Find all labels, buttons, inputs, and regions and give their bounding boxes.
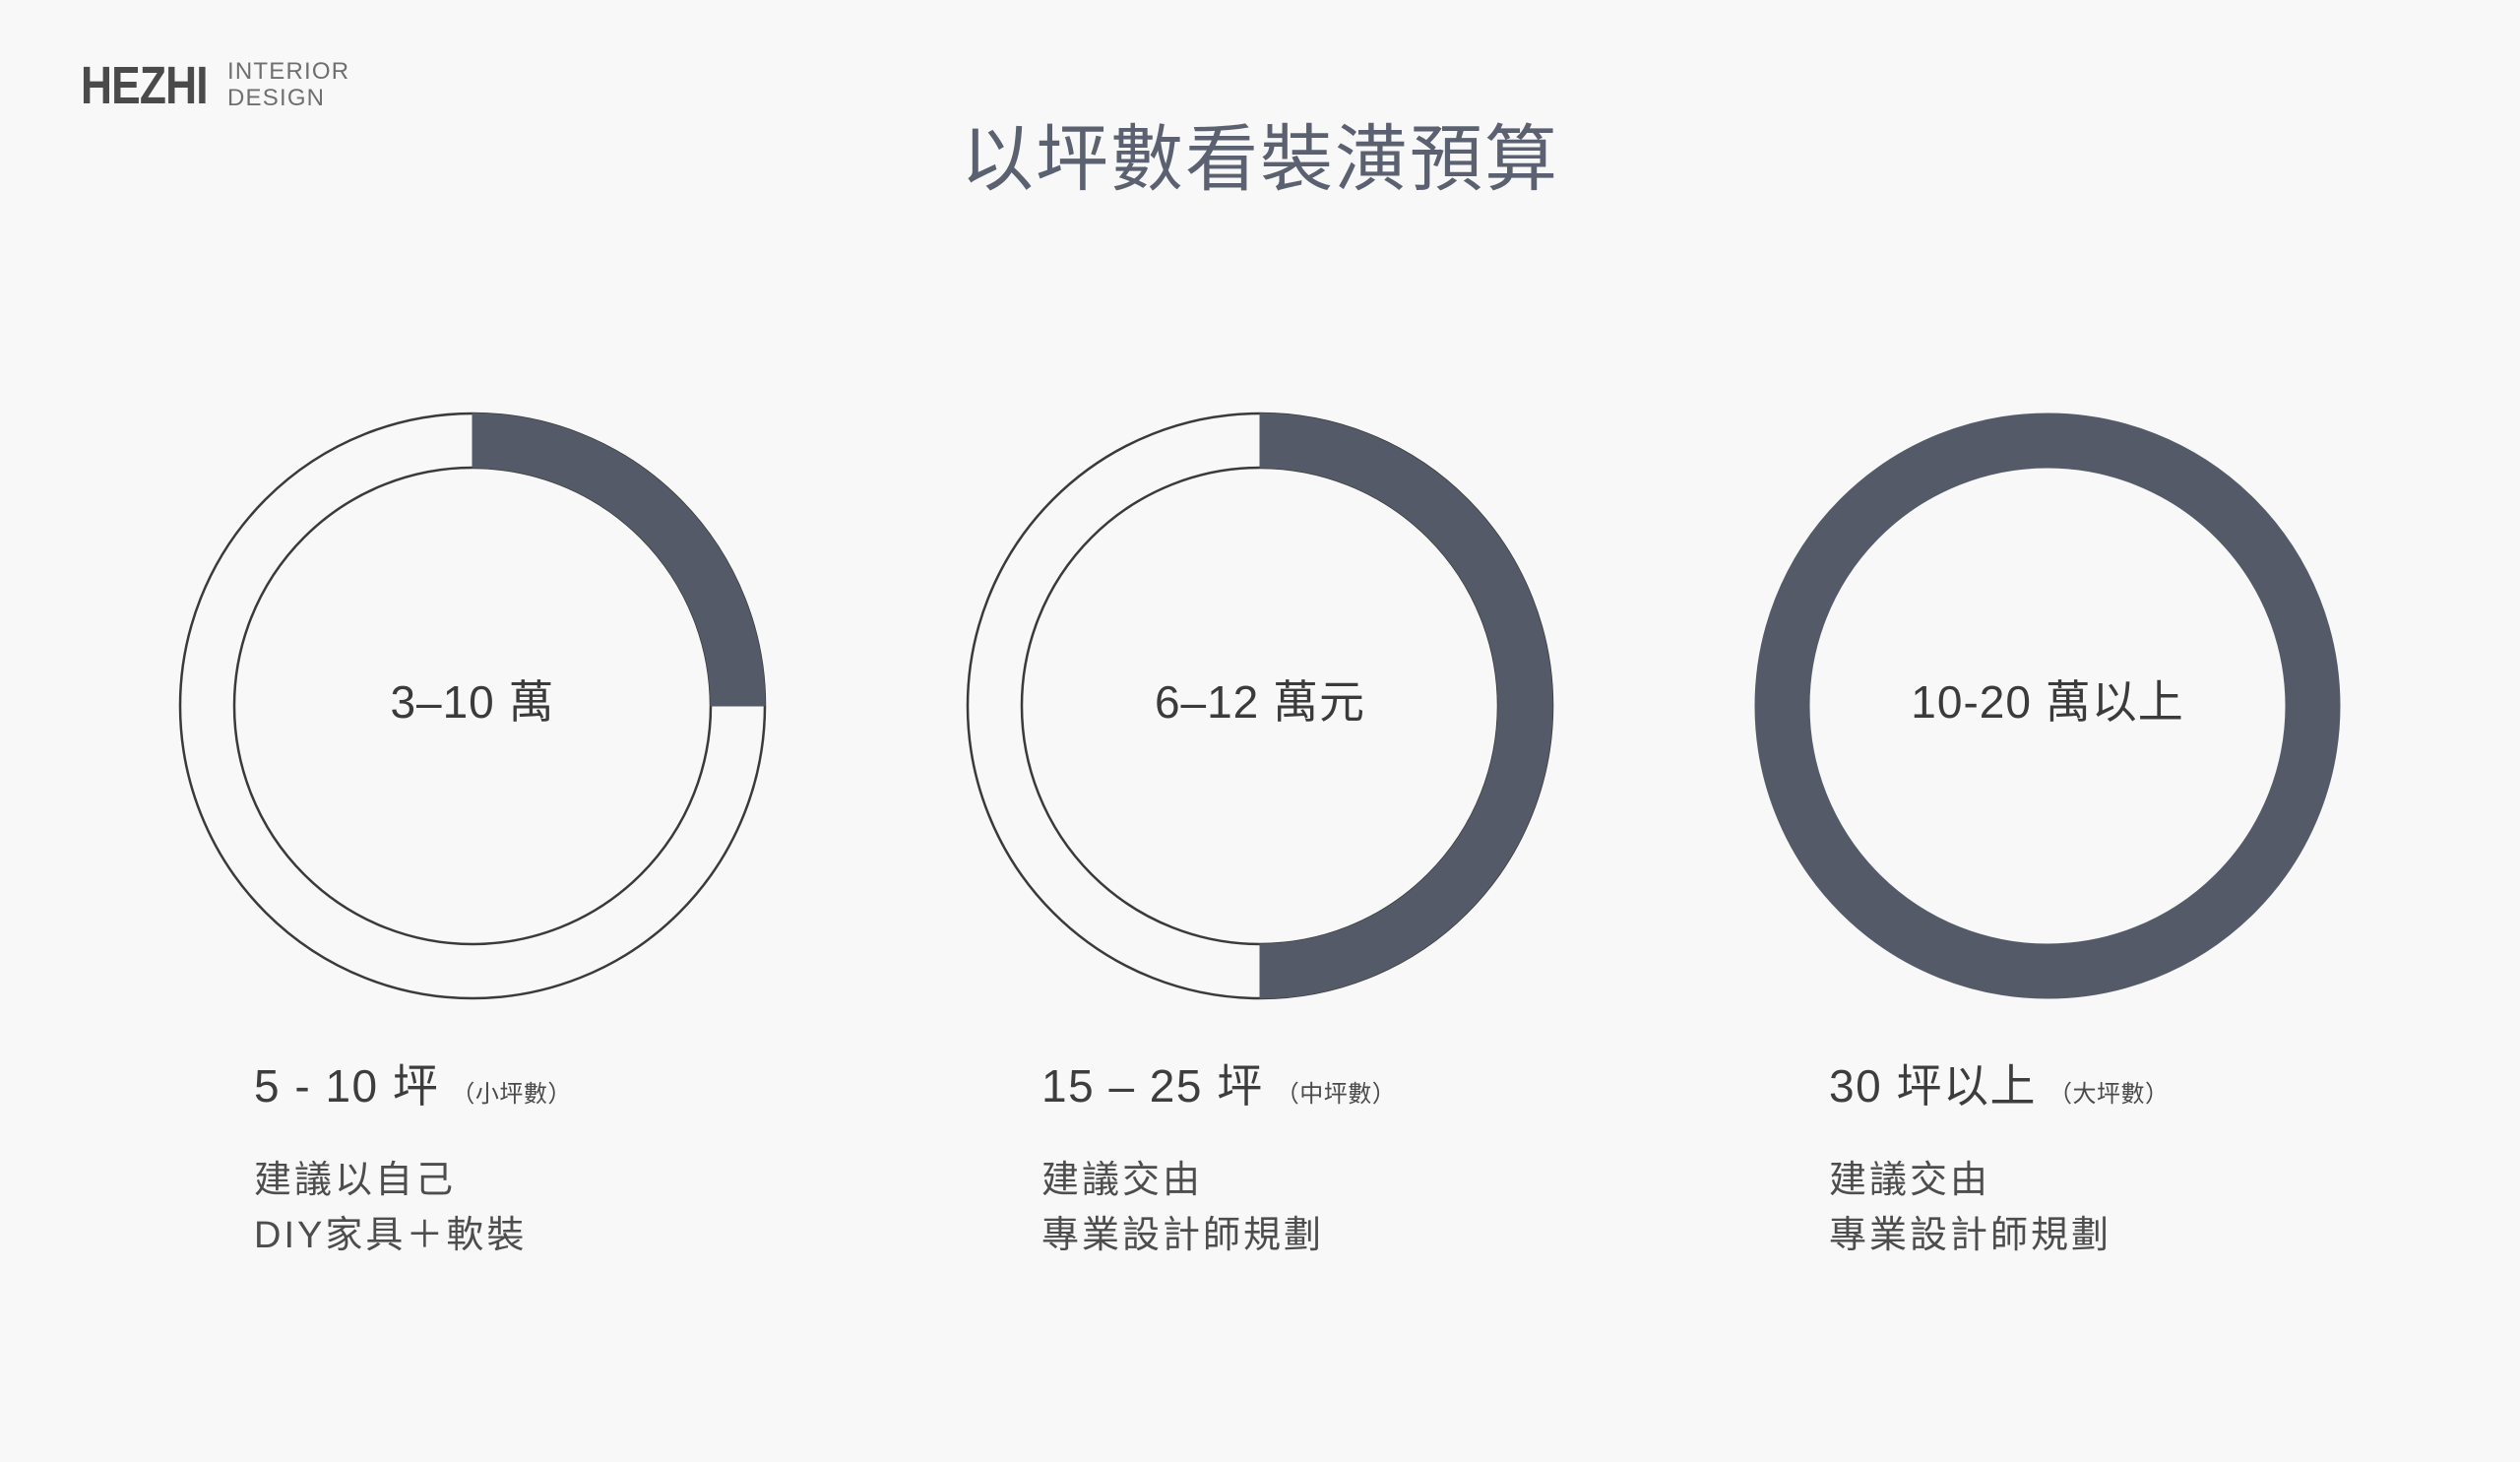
caption-note: （大坪數） [2048, 1081, 2170, 1108]
caption-heading-text: 5 - 10 坪 [254, 1060, 439, 1112]
description-line-2: 專業設計師規劃 [1829, 1208, 2353, 1263]
brand-tagline-line-1: INTERIOR [227, 59, 349, 86]
caption-heading: 5 - 10 坪（小坪數） [254, 1059, 778, 1113]
donut-chart-small: 3–10 萬 [167, 384, 778, 1014]
description-line-2: DIY家具＋軟裝 [254, 1208, 778, 1263]
donut-center-label: 10-20 萬以上 [1911, 667, 2183, 731]
caption-note: （小坪數） [451, 1081, 572, 1108]
description-block: 建議交由 專業設計師規劃 [1041, 1153, 1565, 1263]
budget-column-large: 10-20 萬以上 30 坪以上（大坪數） 建議交由 專業設計師規劃 [1742, 384, 2353, 1264]
brand-logo: HEZHI INTERIOR DESIGN [81, 59, 349, 112]
donut-chart-medium: 6–12 萬元 [955, 384, 1565, 1014]
description-line-1: 建議交由 [1829, 1153, 2353, 1208]
donut-center-label: 6–12 萬元 [1155, 667, 1365, 731]
page-title: 以坪數看裝潢預算 [0, 123, 2520, 196]
caption-block-small: 5 - 10 坪（小坪數） 建議以自己 DIY家具＋軟裝 [167, 1059, 778, 1264]
caption-heading-text: 15 – 25 坪 [1041, 1060, 1264, 1112]
caption-block-medium: 15 – 25 坪（中坪數） 建議交由 專業設計師規劃 [955, 1059, 1565, 1264]
brand-tagline: INTERIOR DESIGN [227, 59, 349, 112]
donut-columns: 3–10 萬 5 - 10 坪（小坪數） 建議以自己 DIY家具＋軟裝 6–12… [0, 384, 2520, 1264]
description-block: 建議以自己 DIY家具＋軟裝 [254, 1153, 778, 1263]
brand-tagline-line-2: DESIGN [227, 86, 349, 112]
caption-note: （中坪數） [1276, 1081, 1397, 1108]
caption-heading-text: 30 坪以上 [1829, 1060, 2037, 1112]
description-line-1: 建議交由 [1041, 1153, 1565, 1208]
donut-chart-large: 10-20 萬以上 [1742, 384, 2353, 1014]
description-line-1: 建議以自己 [254, 1153, 778, 1208]
donut-center-label: 3–10 萬 [390, 667, 554, 731]
caption-block-large: 30 坪以上（大坪數） 建議交由 專業設計師規劃 [1742, 1059, 2353, 1264]
brand-wordmark: HEZHI [81, 59, 208, 112]
description-block: 建議交由 專業設計師規劃 [1829, 1153, 2353, 1263]
caption-heading: 15 – 25 坪（中坪數） [1041, 1059, 1565, 1113]
caption-heading: 30 坪以上（大坪數） [1829, 1059, 2353, 1113]
donut-value-arc [472, 413, 765, 706]
budget-column-small: 3–10 萬 5 - 10 坪（小坪數） 建議以自己 DIY家具＋軟裝 [167, 384, 778, 1264]
budget-column-medium: 6–12 萬元 15 – 25 坪（中坪數） 建議交由 專業設計師規劃 [955, 384, 1565, 1264]
description-line-2: 專業設計師規劃 [1041, 1208, 1565, 1263]
